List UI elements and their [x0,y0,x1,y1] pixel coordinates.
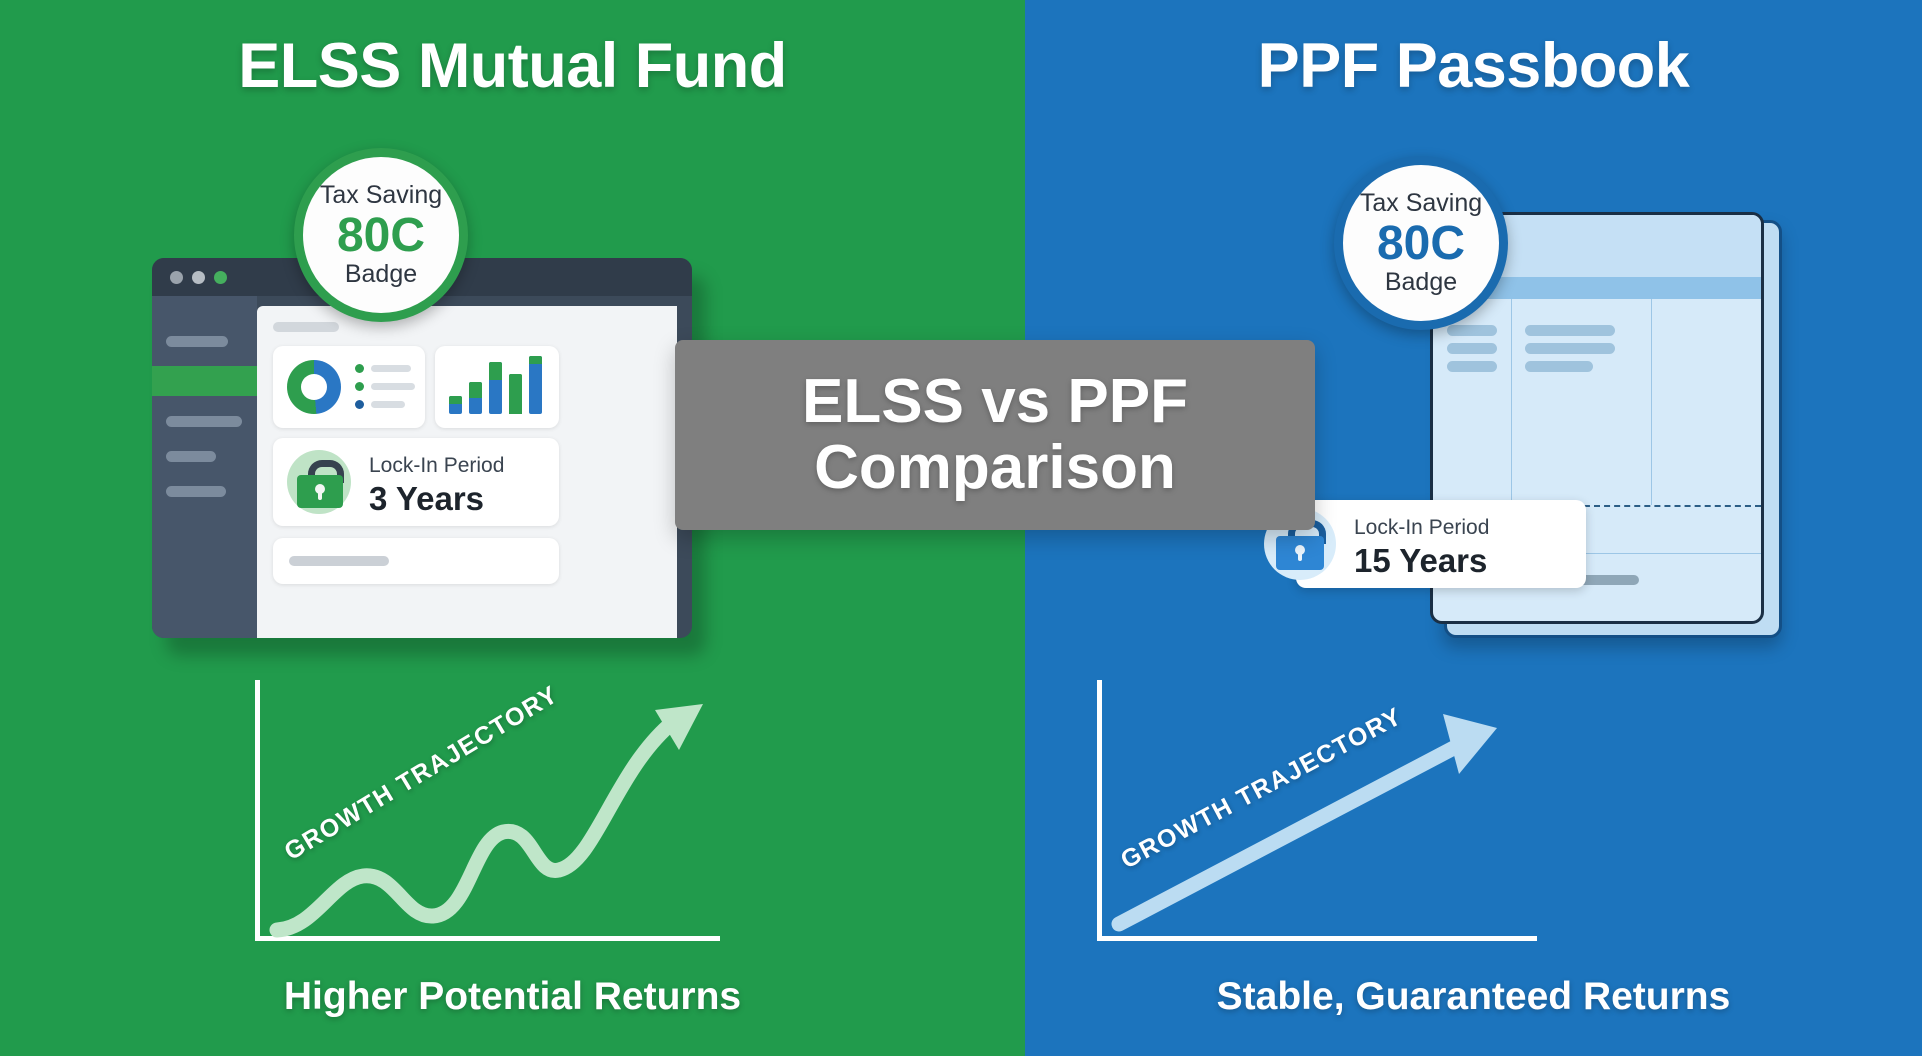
legend-label-1 [371,365,411,372]
dashboard-footer-card [273,538,559,584]
sidebar-item-placeholder-2 [166,416,242,427]
passbook-column-divider-2 [1651,299,1652,505]
lock-in-label: Lock-In Period [1354,516,1489,540]
badge-value: 80C [337,212,425,260]
footer-placeholder-bar [289,556,389,566]
lock-icon-keyslot [318,491,322,500]
bar-1-green-segment [449,396,462,404]
content-heading-placeholder [273,322,339,332]
donut-hole [301,374,327,400]
sidebar-item-placeholder-1 [166,336,228,347]
bar-chart-card [435,346,559,428]
window-close-dot-icon [170,271,183,284]
laptop-body: Lock-In Period 3 Years [152,258,692,638]
legend-dot-1 [355,364,364,373]
right-panel-title: PPF Passbook [1025,30,1922,102]
passbook-text-line [1447,361,1497,372]
passbook-text-line [1525,343,1615,354]
bar-3-green-segment [489,362,502,380]
bar-5 [529,356,542,414]
passbook-text-line [1525,325,1615,336]
banner-line-2: Comparison [802,435,1188,501]
donut-chart-card [273,346,425,428]
sidebar-item-placeholder-3 [166,451,216,462]
badge-line-1: Tax Saving [1360,191,1482,216]
ppf-lock-in-period-card: Lock-In Period 15 Years [1296,500,1586,588]
passbook-column-divider-1 [1511,299,1512,505]
donut-chart [287,360,341,414]
legend-dot-2 [355,382,364,391]
bar-4 [509,374,522,414]
window-maximize-dot-icon [214,271,227,284]
bar-3 [489,362,502,414]
tax-saving-badge-ppf: Tax Saving 80C Badge [1334,156,1508,330]
badge-line-3: Badge [345,262,417,287]
right-footer-caption: Stable, Guaranteed Returns [1025,975,1922,1019]
sidebar-item-placeholder-4 [166,486,226,497]
banner-text: ELSS vs PPF Comparison [802,369,1188,502]
sidebar-item-active [152,366,257,396]
left-panel-title: ELSS Mutual Fund [0,30,1025,102]
infographic-canvas: ELSS Mutual Fund [0,0,1922,1056]
bar-2-green-segment [469,382,482,398]
banner-line-1: ELSS vs PPF [802,369,1188,435]
bar-2 [469,382,482,414]
legend-dot-3 [355,400,364,409]
passbook-text-line [1447,325,1497,336]
lock-in-value: 15 Years [1354,542,1487,580]
badge-line-3: Badge [1385,270,1457,295]
elss-dashboard-mockup: Lock-In Period 3 Years [152,258,692,638]
dashboard-content: Lock-In Period 3 Years [257,306,677,638]
legend-label-2 [371,383,415,390]
lock-in-label: Lock-In Period [369,454,504,478]
bar-1 [449,396,462,414]
bar-5-green-segment [529,356,542,364]
legend-label-3 [371,401,405,408]
comparison-banner: ELSS vs PPF Comparison [675,340,1315,530]
ppf-growth-trajectory: GROWTH TRAJECTORY [1097,680,1537,970]
badge-line-1: Tax Saving [320,183,442,208]
left-footer-caption: Higher Potential Returns [0,975,1025,1019]
window-minimize-dot-icon [192,271,205,284]
lock-in-period-card: Lock-In Period 3 Years [273,438,559,526]
lock-in-value: 3 Years [369,480,484,518]
dashboard-sidebar [152,296,257,638]
bar-4-green-segment [509,374,522,414]
lock-icon-keyslot [1298,552,1302,561]
passbook-text-line [1525,361,1593,372]
elss-growth-trajectory: GROWTH TRAJECTORY [255,680,725,970]
passbook-text-line [1447,343,1497,354]
badge-value: 80C [1377,220,1465,268]
tax-saving-badge-elss: Tax Saving 80C Badge [294,148,468,322]
